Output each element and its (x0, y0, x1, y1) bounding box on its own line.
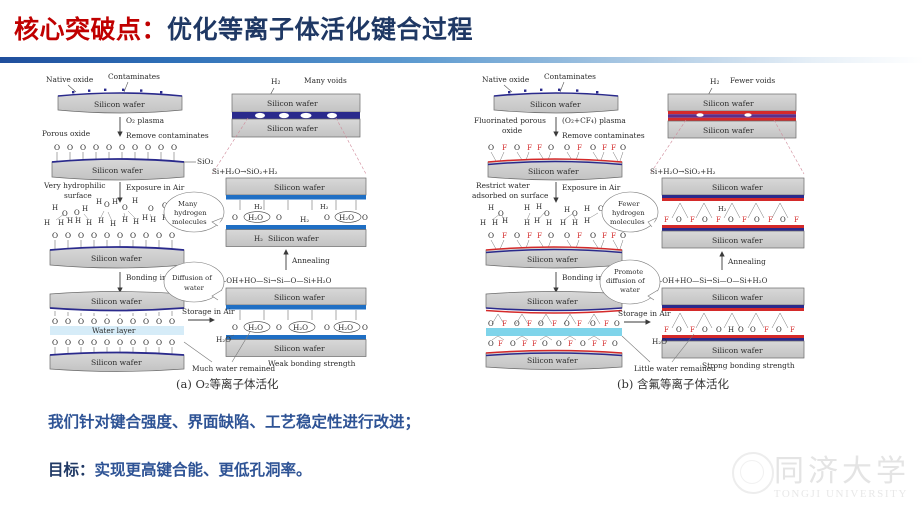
svg-text:O: O (156, 317, 162, 326)
svg-text:H: H (58, 219, 64, 227)
svg-text:O: O (676, 326, 682, 334)
logo-chinese: 同济大学 (774, 446, 910, 490)
body-line-1: 我们针对键合强度、界面缺陷、工艺稳定性进行改进； (48, 410, 420, 432)
goal-text: 实现更高键合能、更低孔洞率。 (95, 461, 312, 479)
label-restrict-water-2: adsorbed on surface (472, 191, 548, 200)
svg-text:O: O (67, 143, 73, 152)
svg-text:O: O (54, 143, 60, 152)
svg-text:F: F (794, 216, 799, 224)
svg-text:O: O (130, 231, 136, 240)
svg-text:O: O (564, 231, 570, 240)
svg-text:O: O (119, 143, 125, 152)
svg-text:H: H (572, 219, 578, 227)
o-atom-row-step3: OOO OOO OOOO (52, 231, 175, 240)
label-much-water-remained: Much water remained (192, 364, 275, 373)
svg-text:Silicon wafer: Silicon wafer (267, 99, 318, 108)
svg-text:F: F (568, 340, 573, 348)
label-sio2: SiO₂ (197, 157, 213, 166)
svg-text:Silicon wafer: Silicon wafer (712, 183, 763, 192)
label-h2o: H₂O (216, 335, 231, 344)
panel-b-caption: (b) 含氟等离子体活化 (617, 376, 729, 392)
svg-text:O: O (171, 143, 177, 152)
goal-label: 目标： (48, 461, 95, 479)
svg-text:O: O (620, 231, 626, 240)
svg-text:O: O (156, 338, 162, 347)
svg-text:H: H (534, 217, 540, 225)
svg-text:O: O (780, 216, 786, 224)
svg-text:O: O (169, 231, 175, 240)
svg-text:O: O (590, 231, 596, 240)
svg-text:O: O (514, 143, 520, 152)
svg-text:F: F (690, 216, 695, 224)
svg-text:H₂O: H₂O (338, 323, 353, 332)
label-annealing: Annealing (291, 256, 330, 265)
svg-text:H₂: H₂ (254, 203, 263, 211)
bubble-many-hydrogen-3: molecules (172, 218, 207, 226)
svg-text:F: F (768, 216, 773, 224)
svg-text:O: O (514, 320, 520, 328)
svg-text:Silicon wafer: Silicon wafer (703, 126, 754, 135)
bubble-many-hydrogen-1: Many (178, 200, 197, 208)
svg-text:O: O (548, 143, 554, 152)
body-line-2: 目标：实现更高键合能、更低孔洞率。 (48, 458, 312, 480)
svg-text:Silicon wafer: Silicon wafer (712, 293, 763, 302)
svg-text:Silicon wafer: Silicon wafer (274, 183, 325, 192)
label-h2-b: H₂ (710, 77, 719, 86)
svg-text:O: O (276, 213, 282, 222)
panel-b-diagram: Native oxide Contaminates Silicon wafer … (472, 70, 892, 378)
label-contaminates-b: Contaminates (544, 72, 596, 81)
svg-text:H: H (110, 220, 116, 228)
title-divider (0, 57, 924, 63)
svg-text:O: O (145, 143, 151, 152)
svg-text:O: O (65, 317, 71, 326)
svg-text:Silicon wafer: Silicon wafer (91, 297, 142, 306)
svg-text:O: O (572, 210, 578, 218)
svg-text:Silicon wafer: Silicon wafer (712, 346, 763, 355)
svg-text:H: H (96, 198, 102, 206)
svg-text:O: O (614, 320, 620, 328)
svg-text:Silicon wafer: Silicon wafer (92, 166, 143, 175)
svg-text:H: H (75, 217, 81, 225)
svg-text:O: O (91, 338, 97, 347)
svg-text:H: H (44, 219, 50, 227)
svg-text:F: F (537, 231, 542, 240)
label-fluorinated-porous-1: Fluorinated porous (474, 116, 546, 125)
svg-text:O: O (548, 231, 554, 240)
svg-text:Silicon wafer: Silicon wafer (91, 358, 142, 367)
svg-text:H: H (524, 219, 530, 227)
svg-text:H: H (536, 203, 542, 211)
svg-text:O: O (620, 143, 626, 152)
svg-text:Silicon wafer: Silicon wafer (274, 293, 325, 302)
svg-text:F: F (527, 320, 532, 328)
label-reaction-2-b: Si—OH+HO—Si→Si—O—Si+H₂O (648, 276, 768, 285)
panel-a-o2-plasma: Native oxide Contaminates Silicon wafer … (36, 70, 456, 392)
svg-text:H₂O: H₂O (293, 323, 308, 332)
svg-text:F: F (604, 320, 609, 328)
label-remove-contaminates-b: Remove contaminates (562, 131, 645, 140)
hydroxyl-cluster-a: HOO HHO HHO OOH HHH HHH HHH HHH H (44, 197, 182, 228)
svg-text:H: H (560, 219, 566, 227)
label-fluorinated-porous-2: oxide (502, 126, 522, 135)
svg-text:O: O (78, 317, 84, 326)
svg-text:O: O (564, 143, 570, 152)
svg-text:O: O (117, 338, 123, 347)
svg-text:O: O (104, 201, 110, 209)
label-o2-plasma: O₂ plasma (126, 116, 165, 125)
svg-text:H₂: H₂ (300, 215, 309, 224)
svg-text:F: F (592, 340, 597, 348)
svg-text:Silicon wafer: Silicon wafer (527, 356, 578, 365)
svg-text:O: O (117, 317, 123, 326)
svg-text:H: H (728, 326, 734, 334)
svg-text:O: O (130, 317, 136, 326)
label-native-oxide-b: Native oxide (482, 75, 529, 84)
svg-text:Silicon wafer: Silicon wafer (703, 99, 754, 108)
svg-text:O: O (158, 143, 164, 152)
label-native-oxide: Native oxide (46, 75, 93, 84)
svg-text:O: O (544, 210, 550, 218)
svg-text:F: F (577, 320, 582, 328)
svg-text:O: O (91, 231, 97, 240)
svg-text:H₂O: H₂O (339, 213, 354, 222)
svg-text:O: O (169, 317, 175, 326)
svg-text:Silicon wafer: Silicon wafer (91, 254, 142, 263)
svg-text:H₂: H₂ (718, 205, 727, 213)
page-title-prefix: 核心突破点： (14, 15, 167, 44)
label-restrict-water-1: Restrict water (476, 181, 530, 190)
svg-text:F: F (502, 143, 507, 152)
label-porous-oxide: Porous oxide (42, 129, 90, 138)
svg-text:O: O (488, 143, 494, 152)
bubble-promote-1: Promote (614, 268, 643, 276)
label-exposure-in-air: Exposure in Air (126, 183, 185, 192)
svg-text:F: F (690, 326, 695, 334)
svg-text:F: F (522, 340, 527, 348)
svg-text:F: F (664, 326, 669, 334)
label-exposure-in-air-b: Exposure in Air (562, 183, 621, 192)
svg-text:O: O (143, 338, 149, 347)
svg-text:F: F (577, 143, 582, 152)
svg-text:O: O (510, 340, 516, 348)
label-weak-bonding-strength: Weak bonding strength (268, 359, 356, 368)
svg-text:O: O (702, 326, 708, 334)
label-many-voids: Many voids (304, 76, 347, 85)
svg-text:O: O (80, 143, 86, 152)
svg-text:Silicon wafer: Silicon wafer (527, 255, 578, 264)
svg-text:H: H (492, 219, 498, 227)
svg-text:F: F (527, 143, 532, 152)
label-very-hydrophilic: Very hydrophilic (43, 181, 105, 190)
svg-text:H₂: H₂ (254, 235, 263, 243)
svg-text:Silicon wafer: Silicon wafer (712, 236, 763, 245)
bubble-diffusion-2: water (184, 284, 205, 292)
bubble-many-hydrogen-2: hydrogen (174, 209, 207, 217)
svg-text:O: O (132, 143, 138, 152)
svg-text:O: O (148, 205, 154, 213)
svg-text:O: O (52, 317, 58, 326)
svg-text:F: F (602, 340, 607, 348)
svg-text:H: H (133, 218, 139, 226)
panel-a-diagram: Native oxide Contaminates Silicon wafer … (36, 70, 456, 378)
svg-text:H: H (150, 216, 156, 224)
svg-text:H: H (86, 219, 92, 227)
svg-text:Silicon wafer: Silicon wafer (527, 297, 578, 306)
svg-text:F: F (527, 231, 532, 240)
svg-text:H: H (142, 214, 148, 222)
svg-text:H: H (82, 205, 88, 213)
svg-text:O: O (232, 213, 238, 222)
svg-text:H: H (132, 197, 138, 205)
bubble-fewer-hydrogen-3: molecules (610, 218, 645, 226)
svg-text:F: F (790, 326, 795, 334)
svg-text:F: F (502, 320, 507, 328)
svg-text:H: H (502, 217, 508, 225)
svg-text:O: O (91, 317, 97, 326)
svg-text:O: O (728, 216, 734, 224)
svg-text:H: H (52, 204, 58, 212)
svg-text:H: H (112, 198, 118, 206)
label-remove-contaminates: Remove contaminates (126, 131, 209, 140)
svg-text:F: F (537, 143, 542, 152)
svg-text:F: F (716, 216, 721, 224)
svg-text:O: O (564, 320, 570, 328)
label-silicon-wafer: Silicon wafer (94, 100, 145, 109)
svg-text:O: O (93, 143, 99, 152)
svg-text:O: O (750, 326, 756, 334)
svg-text:H: H (546, 219, 552, 227)
svg-text:O: O (52, 338, 58, 347)
panel-b-fluorine-plasma: Native oxide Contaminates Silicon wafer … (472, 70, 892, 392)
svg-text:F: F (602, 231, 607, 240)
label-strong-bonding-strength: Strong bonding strength (702, 361, 795, 370)
page-title: 核心突破点：优化等离子体活化键合过程 (14, 10, 473, 46)
svg-text:O: O (738, 326, 744, 334)
svg-text:O: O (538, 320, 544, 328)
svg-text:F: F (764, 326, 769, 334)
svg-text:O: O (104, 317, 110, 326)
svg-text:O: O (78, 338, 84, 347)
label-annealing-b: Annealing (727, 257, 766, 266)
svg-text:O: O (78, 231, 84, 240)
svg-text:O: O (143, 317, 149, 326)
svg-text:O: O (65, 231, 71, 240)
label-cf4-plasma: (O₂+CF₄) plasma (562, 116, 626, 125)
svg-text:F: F (498, 340, 503, 348)
svg-text:H: H (584, 205, 590, 213)
bubble-fewer-hydrogen-1: Fewer (618, 200, 640, 208)
svg-text:O: O (324, 213, 330, 222)
svg-text:F: F (602, 143, 607, 152)
svg-text:H: H (564, 206, 570, 214)
svg-text:O: O (580, 340, 586, 348)
svg-text:F: F (552, 320, 557, 328)
svg-text:H: H (488, 204, 494, 212)
label-h2o-b: H₂O (652, 337, 667, 346)
svg-text:H: H (98, 217, 104, 225)
svg-text:O: O (65, 338, 71, 347)
slide: 核心突破点：优化等离子体活化键合过程 Native oxide (0, 0, 924, 519)
svg-text:F: F (611, 143, 616, 152)
svg-text:H₂O: H₂O (248, 323, 263, 332)
svg-text:O: O (676, 216, 682, 224)
svg-text:Silicon wafer: Silicon wafer (530, 100, 581, 109)
label-contaminates: Contaminates (108, 72, 160, 81)
label-storage-in-air: Storage in Air (182, 307, 235, 316)
svg-text:Silicon wafer: Silicon wafer (267, 124, 318, 133)
svg-text:Silicon wafer: Silicon wafer (528, 167, 579, 176)
svg-text:Silicon wafer: Silicon wafer (268, 234, 319, 243)
svg-text:O: O (130, 338, 136, 347)
bubble-promote-3: water (620, 286, 641, 294)
tongji-seal-icon (732, 452, 774, 494)
svg-text:F: F (502, 231, 507, 240)
svg-text:O: O (276, 323, 282, 332)
bubble-promote-2: diffusion of (606, 277, 645, 285)
label-reaction-2: Si—OH+HO—Si→Si—O—Si+H₂O (212, 276, 332, 285)
svg-text:O: O (488, 340, 494, 348)
svg-text:H₂O: H₂O (248, 213, 263, 222)
panel-a-caption: (a) O₂等离子体活化 (176, 376, 279, 392)
svg-text:O: O (612, 340, 618, 348)
svg-text:O: O (556, 340, 562, 348)
svg-text:O: O (117, 231, 123, 240)
svg-text:O: O (156, 231, 162, 240)
label-water-layer: Water layer (92, 326, 136, 335)
label-reaction-1: Si+H₂O→SiO₂+H₂ (212, 167, 278, 176)
svg-text:O: O (716, 326, 722, 334)
svg-text:O: O (122, 204, 128, 212)
bubble-fewer-hydrogen-2: hydrogen (612, 209, 645, 217)
svg-text:O: O (590, 143, 596, 152)
svg-text:O: O (590, 320, 596, 328)
svg-text:F: F (577, 231, 582, 240)
label-h2: H₂ (271, 77, 280, 86)
svg-text:O: O (324, 323, 330, 332)
page-title-main: 优化等离子体活化键合过程 (167, 15, 473, 44)
label-surface: surface (64, 191, 92, 200)
svg-text:O: O (776, 326, 782, 334)
svg-text:F: F (742, 216, 747, 224)
svg-text:O: O (488, 231, 494, 240)
label-storage-in-air-b: Storage in Air (618, 309, 671, 318)
label-reaction-1-b: Si+H₂O→SiO₂+H₂ (650, 167, 716, 176)
svg-text:Silicon wafer: Silicon wafer (274, 344, 325, 353)
svg-text:O: O (362, 323, 368, 332)
svg-text:O: O (52, 231, 58, 240)
svg-text:O: O (702, 216, 708, 224)
svg-text:O: O (169, 338, 175, 347)
svg-text:H₂: H₂ (320, 203, 329, 211)
label-fewer-voids: Fewer voids (730, 76, 775, 85)
svg-text:O: O (754, 216, 760, 224)
svg-text:O: O (104, 338, 110, 347)
svg-text:H: H (524, 204, 530, 212)
svg-text:O: O (104, 231, 110, 240)
svg-text:H: H (480, 219, 486, 227)
svg-text:F: F (611, 231, 616, 240)
svg-text:O: O (542, 340, 548, 348)
svg-text:O: O (362, 213, 368, 222)
bubble-diffusion-1: Diffusion of (172, 274, 212, 282)
svg-text:O: O (232, 323, 238, 332)
svg-text:F: F (532, 340, 537, 348)
svg-text:O: O (106, 143, 112, 152)
figure-area: Native oxide Contaminates Silicon wafer … (36, 70, 892, 392)
of-atom-row-step2: OF OF FO OF OF FO (488, 143, 626, 152)
svg-text:O: O (74, 209, 80, 217)
svg-text:O: O (488, 320, 494, 328)
svg-text:F: F (664, 216, 669, 224)
logo-english: TONGJI UNIVERSITY (774, 488, 908, 500)
svg-text:O: O (143, 231, 149, 240)
o-atom-row-step2: OOO OOO OOOO (54, 143, 177, 152)
svg-text:O: O (514, 231, 520, 240)
